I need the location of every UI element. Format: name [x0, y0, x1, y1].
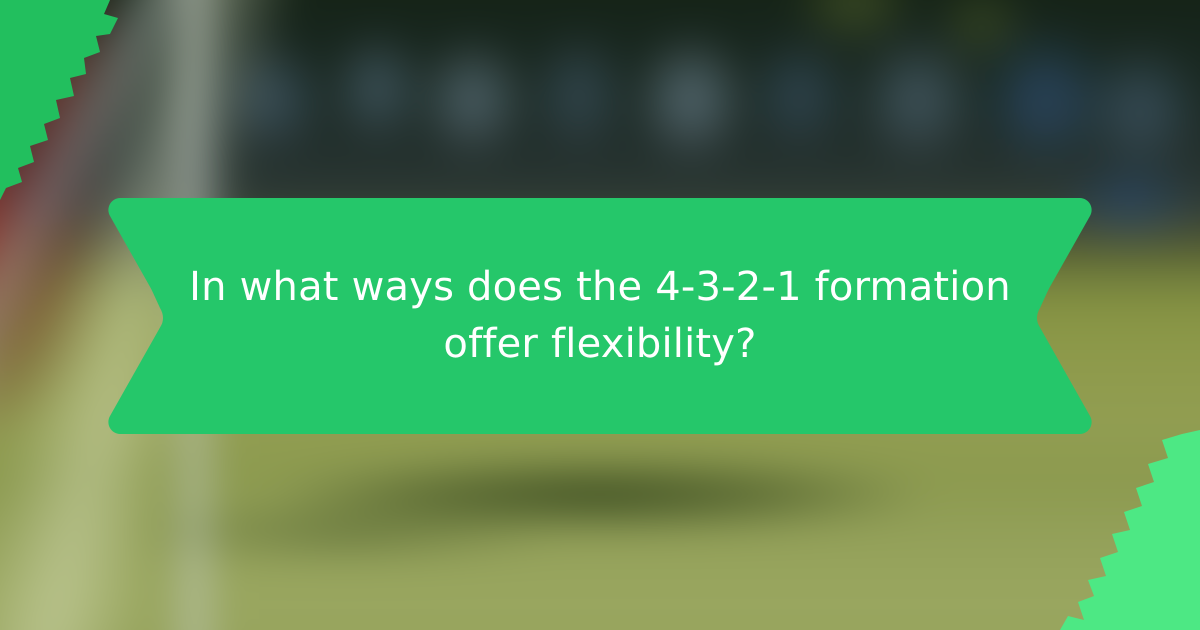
question-ribbon: In what ways does the 4-3-2-1 formation … [108, 198, 1092, 434]
question-line-1: In what ways does the 4-3-2-1 formation [189, 259, 1011, 316]
question-line-2: offer flexibility? [443, 316, 756, 373]
question-text-block: In what ways does the 4-3-2-1 formation … [108, 198, 1092, 434]
share-card: In what ways does the 4-3-2-1 formation … [0, 0, 1200, 630]
